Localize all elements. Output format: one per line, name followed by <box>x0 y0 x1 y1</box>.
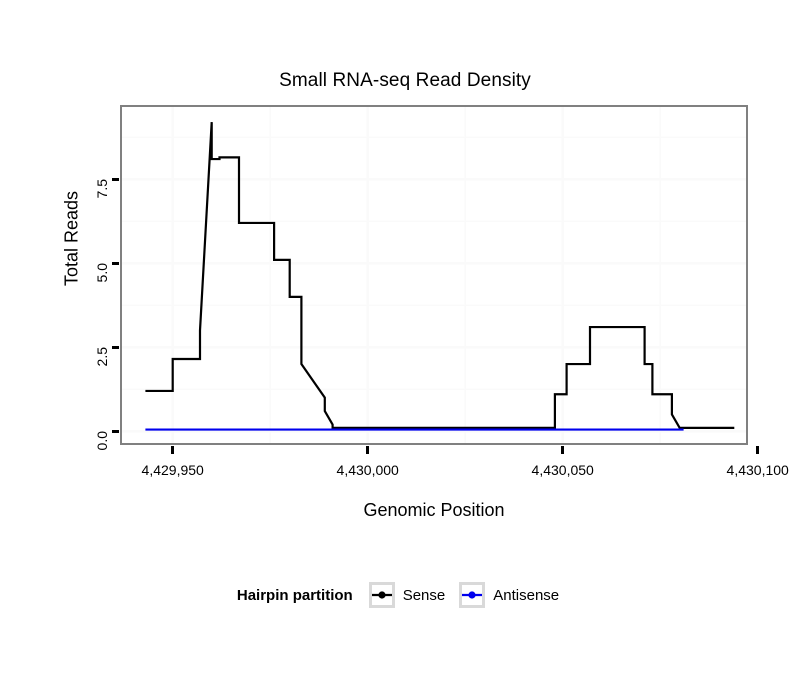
x-tick-mark <box>171 446 174 454</box>
plot-panel <box>120 105 748 445</box>
y-tick-label-wrap: 0.0 <box>62 423 102 439</box>
x-axis-title: Genomic Position <box>120 500 748 521</box>
legend-label-sense: Sense <box>403 587 446 604</box>
y-tick-mark <box>112 346 119 349</box>
legend-label-antisense: Antisense <box>493 587 559 604</box>
plot-area <box>122 107 746 443</box>
y-tick-mark <box>112 262 119 265</box>
legend-key-antisense-icon <box>459 582 485 608</box>
x-tick-label: 4,430,050 <box>493 462 633 478</box>
chart-figure: Small RNA-seq Read Density Total Reads G… <box>0 0 810 690</box>
series-lines <box>145 122 734 429</box>
y-tick-label-wrap: 7.5 <box>62 171 102 187</box>
y-tick-label: 2.5 <box>94 347 110 387</box>
series-line-sense <box>145 122 734 428</box>
chart-title: Small RNA-seq Read Density <box>0 70 810 92</box>
x-tick-label: 4,430,000 <box>298 462 438 478</box>
chart-legend: Hairpin partition Sense Antisense <box>0 582 810 608</box>
y-tick-label-wrap: 5.0 <box>62 255 102 271</box>
legend-key-sense-icon <box>369 582 395 608</box>
y-tick-mark <box>112 178 119 181</box>
y-tick-mark <box>112 430 119 433</box>
x-tick-label: 4,429,950 <box>103 462 243 478</box>
legend-item-antisense[interactable]: Antisense <box>459 582 559 608</box>
x-tick-mark <box>366 446 369 454</box>
legend-item-sense[interactable]: Sense <box>369 582 446 608</box>
x-tick-mark <box>561 446 564 454</box>
x-tick-label: 4,430,100 <box>688 462 810 478</box>
y-tick-label: 7.5 <box>94 179 110 219</box>
y-tick-label-wrap: 2.5 <box>62 339 102 355</box>
x-tick-mark <box>756 446 759 454</box>
legend-title: Hairpin partition <box>237 587 353 604</box>
y-tick-label: 5.0 <box>94 263 110 303</box>
